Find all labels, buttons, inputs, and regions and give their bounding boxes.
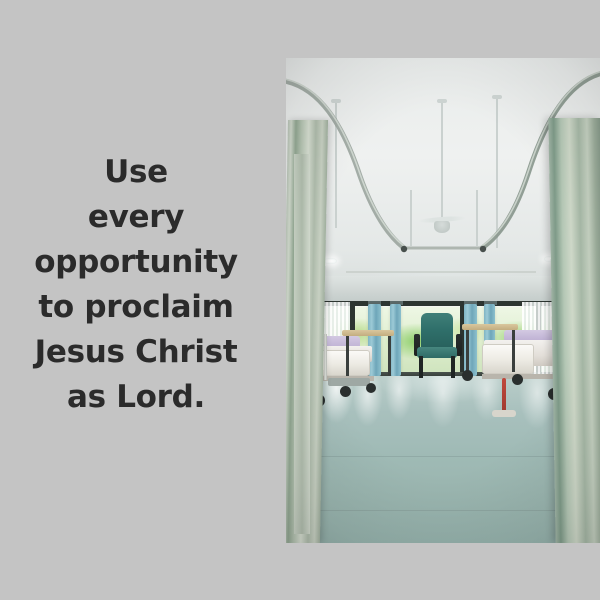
window-curtain-strip: [390, 304, 401, 376]
bed-caster: [340, 386, 351, 397]
armchair-leg: [419, 356, 423, 378]
table-leg: [466, 330, 469, 372]
poster-canvas: Use every opportunity to proclaim Jesus …: [0, 0, 600, 600]
privacy-curtain-left-fold: [294, 154, 310, 534]
overbed-table-left: [342, 330, 394, 336]
bed-release-lever: [502, 378, 506, 412]
quote-line-5: Jesus Christ: [0, 330, 272, 375]
quote-line-3: opportunity: [0, 240, 272, 285]
armchair-backrest: [421, 313, 453, 351]
bed-base-left: [328, 378, 370, 386]
floor-seam: [286, 510, 600, 511]
bed-pedal: [492, 410, 516, 417]
quote-line-6: as Lord.: [0, 375, 272, 420]
privacy-curtain-right: [548, 118, 600, 543]
bed-caster: [512, 374, 523, 385]
table-leg: [512, 330, 515, 372]
quote-line-2: every: [0, 195, 272, 240]
quote-line-4: to proclaim: [0, 285, 272, 330]
bed-caster: [462, 370, 473, 381]
armchair-leg: [451, 356, 455, 378]
quote-text: Use every opportunity to proclaim Jesus …: [0, 150, 272, 420]
table-leg: [388, 336, 391, 376]
bed-siderail-right: [482, 344, 534, 374]
hospital-ward-photo: [286, 58, 600, 543]
floor-seam: [286, 456, 600, 457]
bed-pole: [324, 334, 327, 380]
overbed-table-right: [462, 324, 518, 330]
table-leg: [346, 336, 349, 376]
quote-line-1: Use: [0, 150, 272, 195]
bed-caster: [366, 383, 376, 393]
